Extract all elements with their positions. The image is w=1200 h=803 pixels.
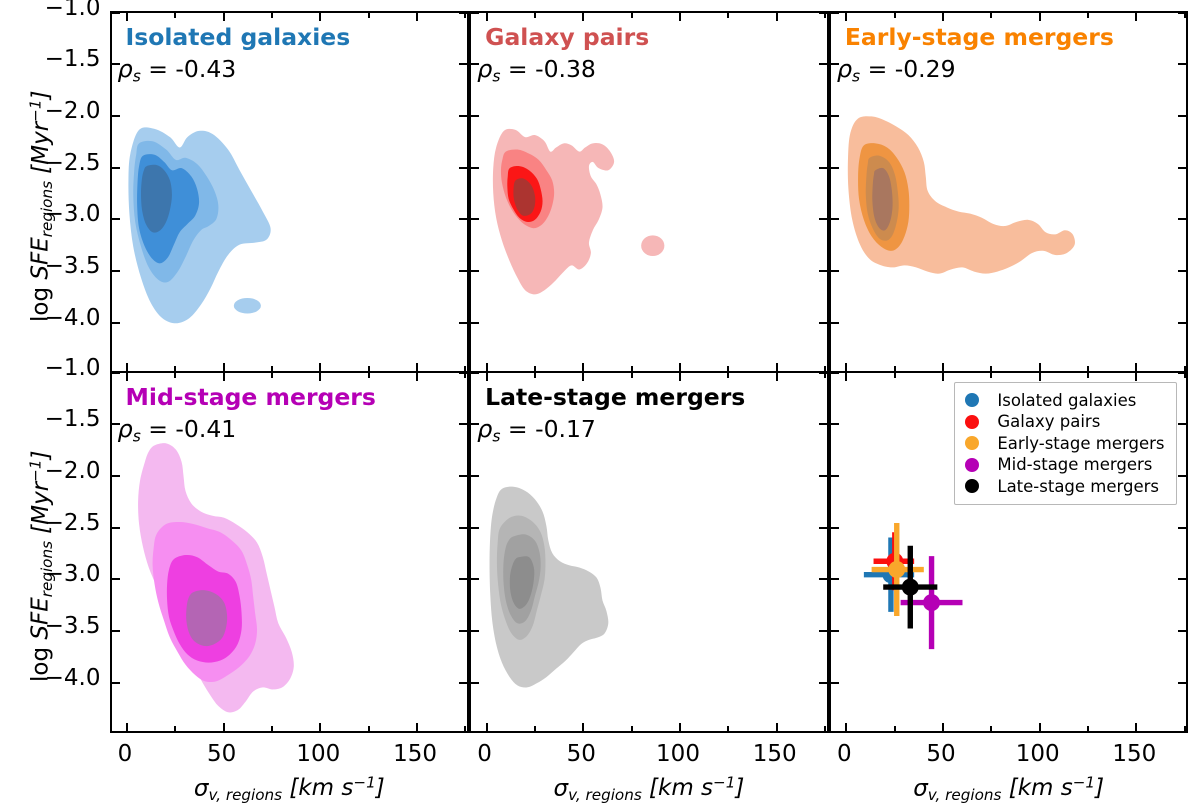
x-tick-major-top [582,373,584,381]
y-tick-major-right [459,115,467,117]
panel-title-isolated-galaxies: Isolated galaxies [126,23,351,51]
x-tick-minor [631,726,633,731]
x-tick-minor-top [271,373,273,378]
panel-spearman-isolated-galaxies: ρs = -0.43 [118,55,237,85]
x-tick-minor-top [990,13,992,18]
y-tick-major-right [819,63,827,65]
x-axis-tick-label: 50 [182,741,262,767]
x-axis-tick-label: 0 [804,741,884,767]
x-axis-tick-label: 150 [1094,741,1174,767]
y-tick-major-right [819,578,827,580]
y-tick-major [831,115,839,117]
y-tick-major-right [1178,218,1186,220]
x-tick-minor-top [464,13,466,18]
y-tick-major-right [1178,270,1186,272]
x-tick-major-top [319,373,321,381]
y-tick-major-right [819,527,827,529]
y-tick-major-right [819,218,827,220]
y-tick-major-right [819,682,827,684]
y-tick-major [112,475,120,477]
y-tick-major-right [819,270,827,272]
y-tick-major [831,270,839,272]
panel-spearman-mid-stage-mergers: ρs = -0.41 [118,415,237,445]
y-tick-major-right [459,218,467,220]
x-axis-title: σv, regions [km s−1] [469,774,829,803]
errorbar-marker [902,578,919,595]
y-tick-major [471,218,479,220]
x-tick-major-top [416,13,418,21]
y-tick-major [471,423,479,425]
y-tick-major-right [1178,322,1186,324]
panel-galaxy-pairs: Galaxy pairsρs = -0.38 [469,11,829,373]
y-tick-major [831,322,839,324]
x-tick-major [679,363,681,371]
y-tick-major [112,630,120,632]
x-tick-minor [534,726,536,731]
y-tick-major [112,527,120,529]
x-tick-minor-top [824,13,826,18]
x-tick-major [679,723,681,731]
y-tick-major-right [459,475,467,477]
y-tick-major [831,218,839,220]
y-tick-major [112,115,120,117]
y-tick-major-right [459,578,467,580]
x-tick-major [126,363,128,371]
y-tick-major [471,371,479,373]
y-tick-major [112,682,120,684]
x-tick-major-top [223,373,225,381]
x-tick-minor-top [824,373,826,378]
x-axis-title: σv, regions [km s−1] [829,774,1189,803]
x-tick-major-top [126,13,128,21]
y-tick-major-right [1178,63,1186,65]
x-tick-major [319,723,321,731]
errorbar-marker [888,561,905,578]
x-tick-major-top [486,373,488,381]
x-tick-minor-top [534,13,536,18]
y-tick-major [471,527,479,529]
y-tick-major [112,218,120,220]
x-tick-major-top [1039,13,1041,21]
y-tick-major-right [459,527,467,529]
y-axis-tick-label: −1.5 [45,406,101,432]
y-tick-major-right [819,630,827,632]
y-axis-title: log SFEregions [Myr−1] [26,450,56,682]
x-tick-minor [727,726,729,731]
x-tick-minor-top [727,13,729,18]
y-tick-major-right [459,270,467,272]
y-tick-major [471,475,479,477]
x-tick-minor [174,726,176,731]
x-tick-minor [464,726,466,731]
x-tick-major [582,363,584,371]
x-tick-major-top [679,373,681,381]
x-tick-major [1135,363,1137,371]
y-tick-major [471,322,479,324]
y-tick-major-right [459,630,467,632]
x-tick-minor-top [727,373,729,378]
y-tick-major-right [1178,167,1186,169]
summary-errorbars [831,373,1189,733]
y-tick-major-right [459,423,467,425]
x-tick-major-top [776,13,778,21]
x-tick-major [776,363,778,371]
x-tick-major [845,363,847,371]
panel-early-stage-mergers: Early-stage mergersρs = -0.29 [829,11,1189,373]
x-axis-tick-label: 150 [375,741,455,767]
x-tick-minor-top [631,13,633,18]
x-tick-major-top [582,13,584,21]
panel-title-galaxy-pairs: Galaxy pairs [485,23,649,51]
x-tick-major-top [845,13,847,21]
x-axis-tick-label: 100 [278,741,358,767]
x-tick-major [126,723,128,731]
kde-contour-level-4 [186,590,227,646]
x-tick-major [486,363,488,371]
panel-summary: Isolated galaxiesGalaxy pairsEarly-stage… [829,371,1189,733]
x-tick-major-top [679,13,681,21]
y-tick-major [471,270,479,272]
panel-title-mid-stage-mergers: Mid-stage mergers [126,383,376,411]
x-tick-major-top [1135,13,1137,21]
x-tick-minor-top [631,373,633,378]
x-axis-title: σv, regions [km s−1] [110,774,470,803]
panel-mid-stage-mergers: Mid-stage mergersρs = -0.41 [110,371,470,733]
y-tick-major-right [459,167,467,169]
x-tick-minor-top [1184,13,1186,18]
y-tick-major [112,11,120,13]
y-tick-major [471,11,479,13]
y-tick-major [112,578,120,580]
x-tick-minor-top [174,373,176,378]
x-axis-tick-label: 0 [85,741,165,767]
x-tick-minor-top [534,373,536,378]
y-tick-major [112,167,120,169]
x-tick-major [416,723,418,731]
x-tick-major [223,363,225,371]
y-tick-major-right [459,682,467,684]
y-tick-major [471,682,479,684]
x-tick-minor-top [271,13,273,18]
y-tick-major [471,167,479,169]
y-tick-major [831,167,839,169]
x-tick-minor [271,726,273,731]
x-tick-major [1039,363,1041,371]
x-tick-minor-top [1087,13,1089,18]
x-axis-tick-label: 50 [901,741,981,767]
x-tick-major [486,723,488,731]
y-tick-major-right [819,167,827,169]
y-tick-major-right [459,322,467,324]
y-tick-major [471,578,479,580]
y-tick-major [112,322,120,324]
x-axis-tick-label: 100 [638,741,718,767]
y-tick-major [112,423,120,425]
x-tick-major-top [223,13,225,21]
panel-late-stage-mergers: Late-stage mergersρs = -0.17 [469,371,829,733]
y-tick-major [831,11,839,13]
x-tick-major-top [486,13,488,21]
panel-title-late-stage-mergers: Late-stage mergers [485,383,745,411]
y-tick-major-right [819,423,827,425]
x-tick-major [416,363,418,371]
y-tick-major-right [819,322,827,324]
x-tick-major [223,723,225,731]
x-tick-major [319,363,321,371]
x-tick-minor-top [894,13,896,18]
panel-spearman-galaxy-pairs: ρs = -0.38 [477,55,596,85]
y-axis-tick-label: −1.0 [45,0,101,21]
kde-satellite-blob [641,235,664,256]
x-axis-tick-label: 150 [735,741,815,767]
y-tick-major-right [819,115,827,117]
x-tick-major-top [319,13,321,21]
x-tick-major [942,363,944,371]
x-tick-minor-top [368,13,370,18]
y-tick-major [112,371,120,373]
y-tick-major [471,630,479,632]
x-tick-minor-top [368,373,370,378]
y-tick-major [112,270,120,272]
kde-satellite-blob [233,297,260,313]
x-tick-major [776,723,778,731]
x-tick-major [582,723,584,731]
panel-spearman-late-stage-mergers: ρs = -0.17 [477,415,596,445]
x-axis-tick-label: 50 [541,741,621,767]
x-tick-minor-top [464,373,466,378]
y-axis-tick-label: −1.5 [45,46,101,72]
x-tick-minor-top [174,13,176,18]
errorbar-marker [923,594,940,611]
y-axis-title: log SFEregions [Myr−1] [26,90,56,322]
panel-spearman-early-stage-mergers: ρs = -0.29 [837,55,956,85]
y-tick-major [831,63,839,65]
x-tick-major-top [776,373,778,381]
y-tick-major-right [459,63,467,65]
x-tick-major-top [942,13,944,21]
x-tick-minor [368,726,370,731]
y-tick-major [471,115,479,117]
figure-root: Isolated galaxiesρs = -0.43Galaxy pairsρ… [0,0,1200,801]
y-tick-major [471,63,479,65]
x-tick-minor [824,726,826,731]
x-tick-major-top [416,373,418,381]
y-tick-major-right [819,475,827,477]
y-tick-major-right [1178,115,1186,117]
x-tick-major-top [126,373,128,381]
panel-title-early-stage-mergers: Early-stage mergers [845,23,1114,51]
x-axis-tick-label: 100 [998,741,1078,767]
x-axis-tick-label: 0 [445,741,525,767]
y-axis-tick-label: −1.0 [45,355,101,381]
panel-isolated-galaxies: Isolated galaxiesρs = -0.43 [110,11,470,373]
y-tick-major [112,63,120,65]
